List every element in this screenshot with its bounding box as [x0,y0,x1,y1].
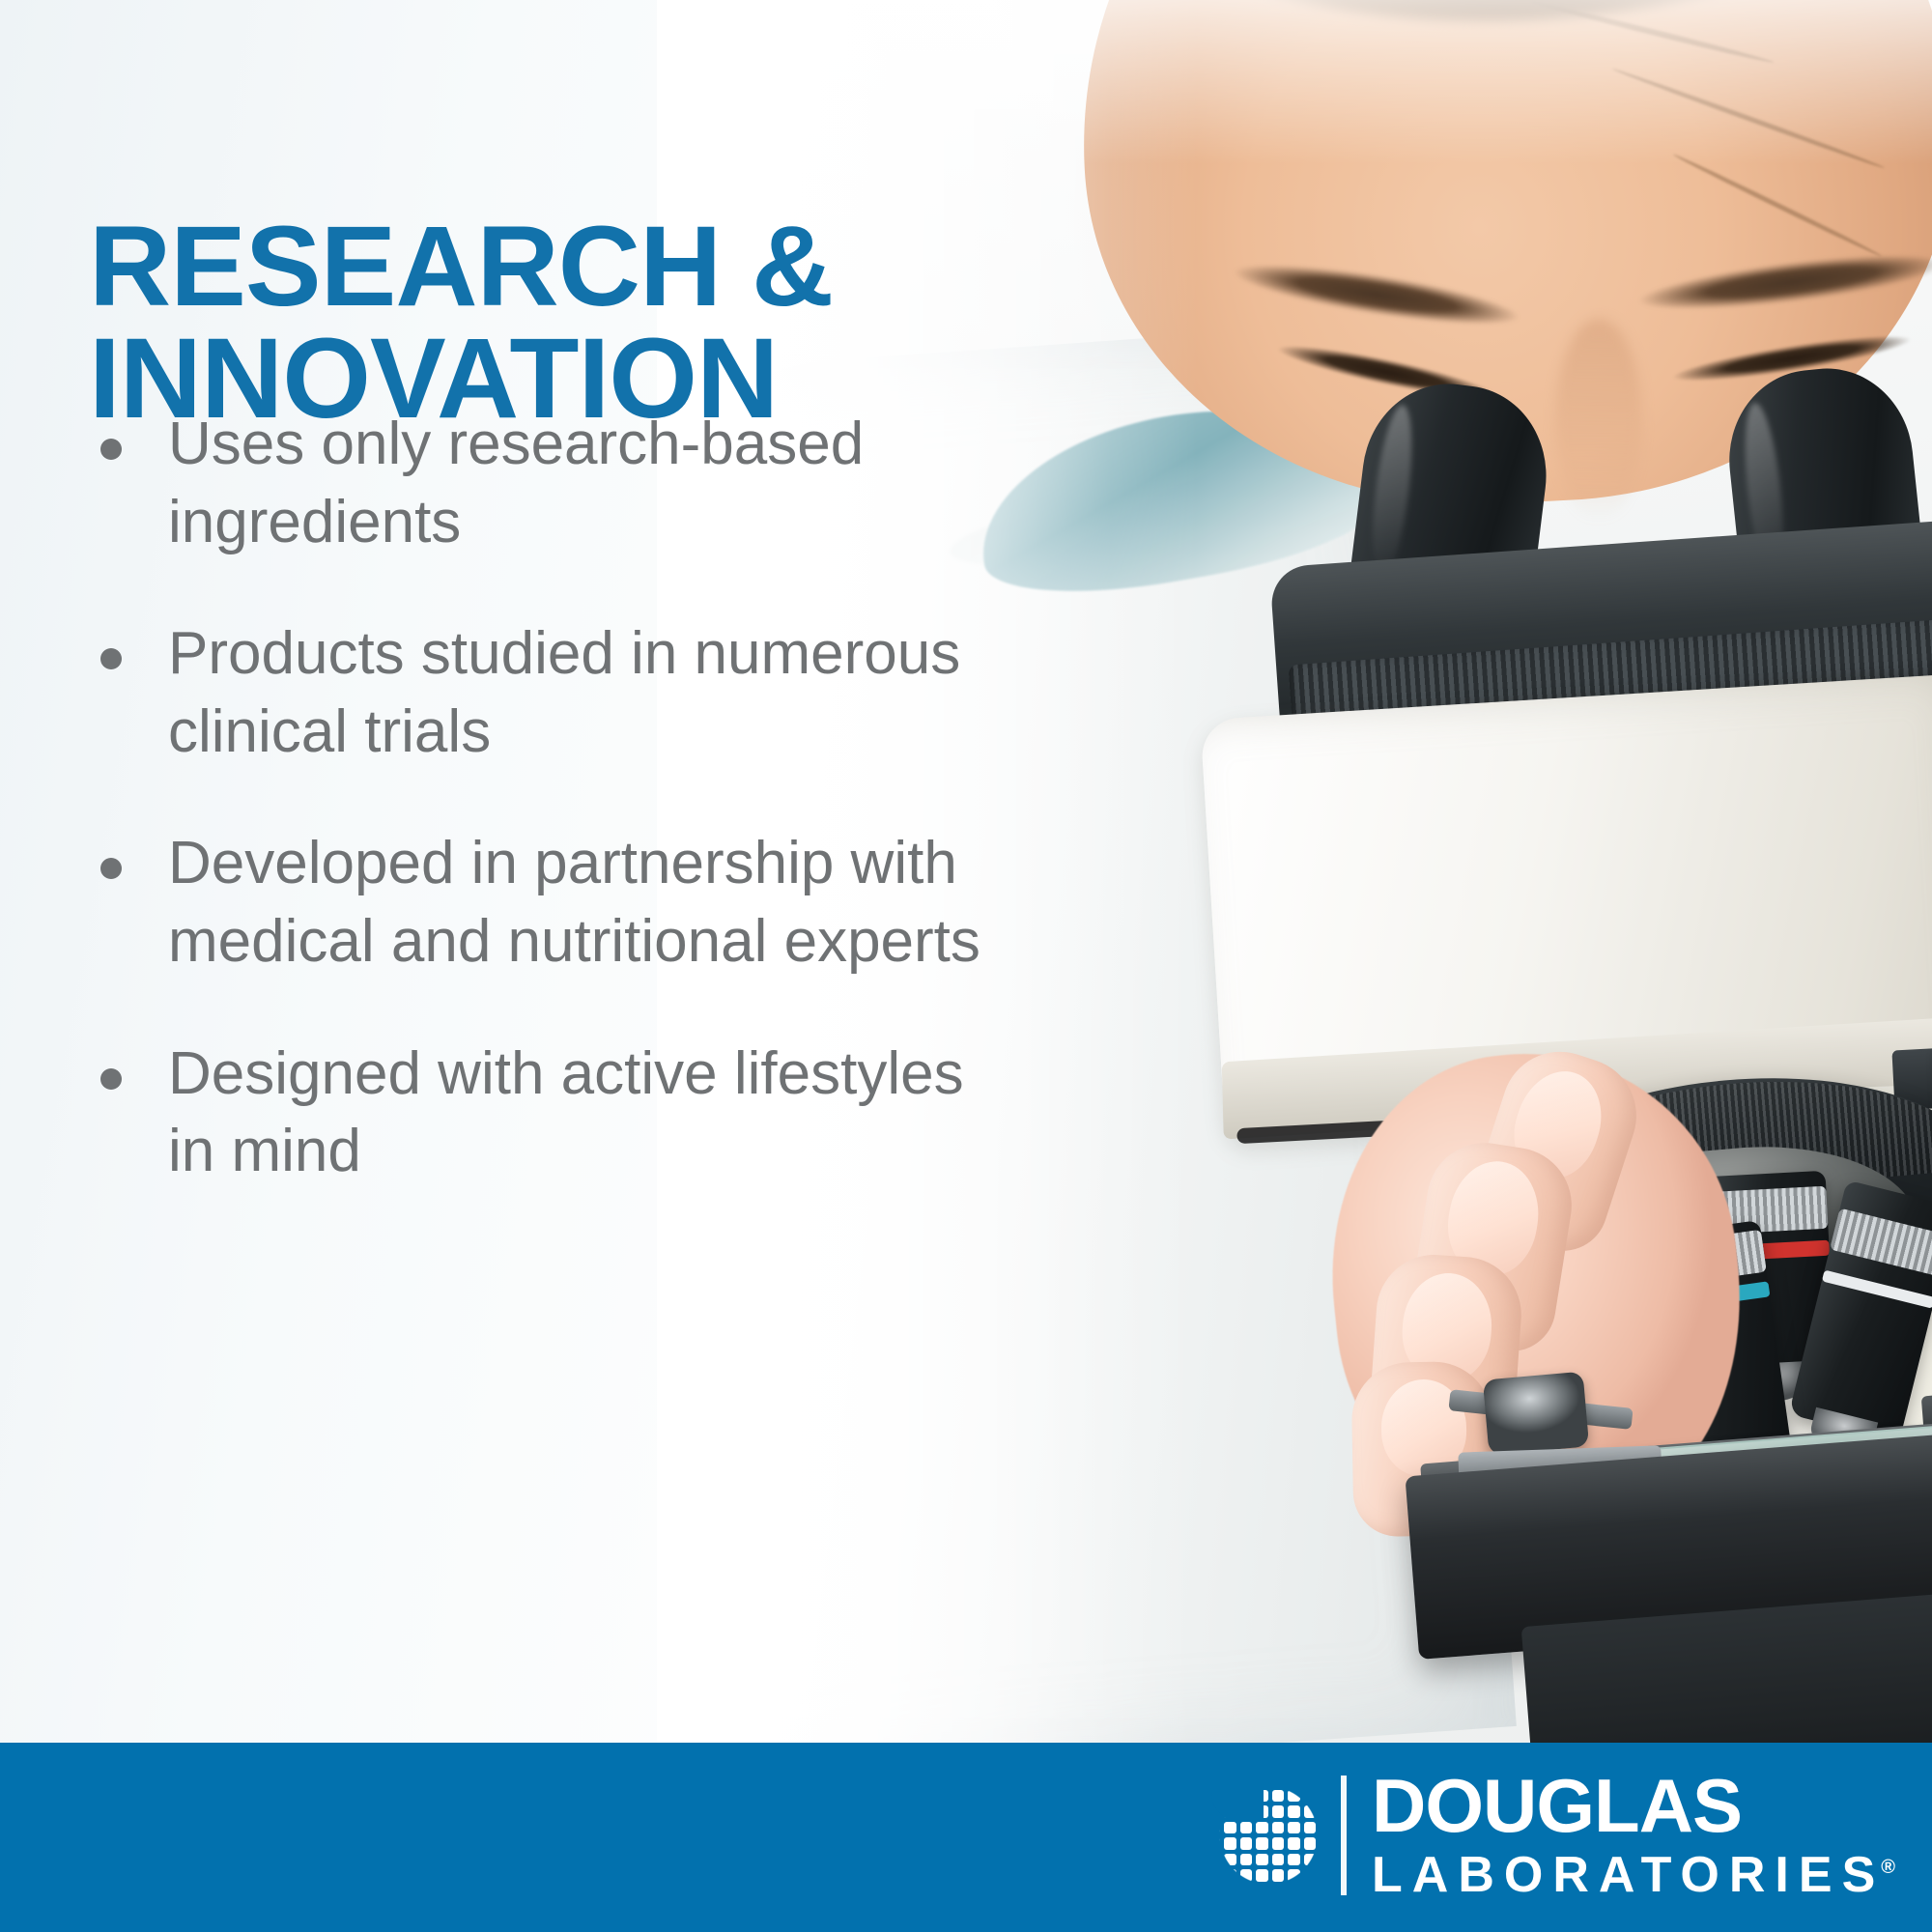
logo-divider [1341,1776,1347,1895]
page-title: RESEARCH & INNOVATION [89,212,1016,435]
logo-wordmark: DOUGLAS LABORATORIES® [1372,1771,1895,1899]
nose-bridge [1555,319,1642,522]
list-item: Designed with active lifestyles in mind [89,1036,1016,1191]
marketing-poster: RESEARCH & INNOVATION Uses only research… [0,0,1932,1932]
list-item: Developed in partnership with medical an… [89,825,1016,980]
bullet-dot-icon [100,648,122,669]
photo-top-fade [657,0,1932,164]
list-item-label: Designed with active lifestyles in mind [168,1040,964,1185]
list-item-label: Developed in partnership with medical an… [168,830,980,975]
logo-brand-sub: LABORATORIES® [1372,1850,1895,1900]
list-item-label: Uses only research-based ingredients [168,411,864,555]
registered-trademark-icon: ® [1881,1857,1895,1878]
list-item: Products studied in numerous clinical tr… [89,615,1016,771]
list-item-label: Products studied in numerous clinical tr… [168,620,960,765]
list-item: Uses only research-based ingredients [89,406,1016,561]
logo-brand-name: DOUGLAS [1372,1771,1895,1841]
bullet-dot-icon [100,1068,122,1090]
objective-band-white [1822,1270,1932,1309]
benefits-list: Uses only research-based ingredients Pro… [89,406,1016,1245]
bullet-dot-icon [100,439,122,460]
footer-bar: DOUGLAS LABORATORIES® [0,1743,1932,1932]
brand-logo: DOUGLAS LABORATORIES® [1192,1758,1895,1913]
douglas-dot-grid-icon [1192,1774,1316,1897]
objective-collar [1830,1208,1932,1277]
title-line-1: RESEARCH & [89,212,1016,324]
logo-brand-sub-text: LABORATORIES [1372,1847,1885,1903]
slide-clip-knob [1483,1372,1589,1456]
bullet-dot-icon [100,858,122,879]
